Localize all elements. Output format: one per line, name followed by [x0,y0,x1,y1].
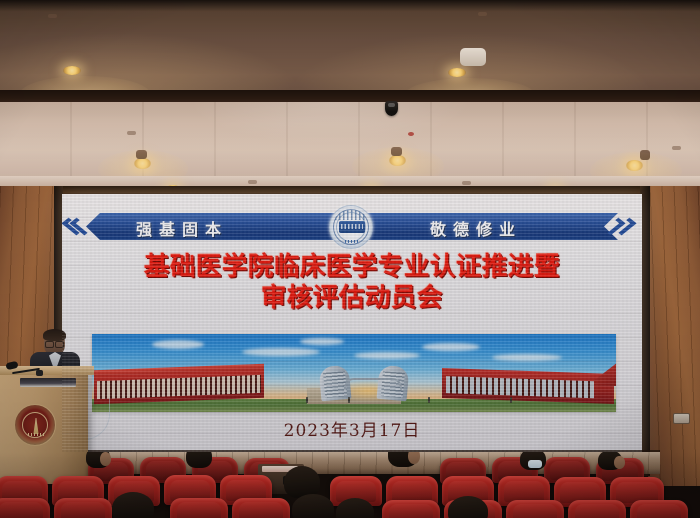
speaker-documents [20,378,76,387]
mic-head [5,361,18,370]
university-seal-emblem [329,205,373,249]
audience-member [112,492,154,518]
sprinkler-head [408,132,414,136]
audience-member [292,494,334,518]
auditorium-seat[interactable] [170,498,228,518]
motto-left: 强基固本 [136,216,228,240]
auditorium-seat[interactable] [506,500,564,518]
campus-sky-bridge [344,378,402,390]
emblem-core [339,221,365,233]
audience-seating-area [0,452,700,518]
emblem-arc-text [335,210,367,220]
ceiling-vent [462,181,471,185]
slide-title-line-1: 基础医学院临床医学专业认证推进暨 [144,252,560,282]
cloud [152,340,204,349]
wall-power-outlet[interactable] [673,413,690,424]
ceiling-vent [127,131,136,135]
audience-member [336,498,374,518]
light-housing [460,48,486,66]
audience-member-face [408,452,420,464]
slide-title: 基础医学院临床医学专业认证推进暨 审核评估动员会 [62,252,642,314]
emblem-year-text [345,240,359,243]
gooseneck-microphone [8,358,42,376]
motto-right: 敬德修业 [430,216,522,240]
ceiling-vent [672,146,681,150]
upper-ceiling [0,0,700,96]
auditorium-seat[interactable] [382,500,440,518]
ceiling-spotlight [63,66,81,75]
mic-base [36,370,43,376]
auditorium-seat[interactable] [568,500,626,518]
slide-title-line-2: 审核评估动员会 [62,283,642,314]
ceiling-spotlight [389,155,406,166]
light-housing [640,150,650,160]
auditorium-seat[interactable] [54,498,112,518]
auditorium-scene: 强基固本 敬德修业 基础医学院临床医学专业认证推进暨 审核评估动员会 [0,0,700,518]
audience-member [448,496,488,518]
right-wood-wall [648,186,700,486]
auditorium-seat[interactable] [232,498,290,518]
pedestrian [428,397,430,403]
crest-year-text [28,433,44,436]
light-housing [391,147,402,156]
audience-member [186,452,212,468]
cloud [492,354,562,361]
ceiling-spotlight [134,158,151,169]
cloud [242,348,320,356]
auditorium-seat[interactable] [630,500,688,518]
slide-banner: 强基固本 敬德修业 [62,208,642,246]
speaker-hair [43,329,66,341]
face-mask [528,460,542,468]
speaker-glasses [45,341,64,346]
ceiling-vent [48,14,57,18]
light-housing [136,150,147,159]
led-presentation-screen: 强基固本 敬德修业 基础医学院临床医学专业认证推进暨 审核评估动员会 [62,194,642,452]
crest-torch-icon [32,418,40,434]
podium-university-crest [14,404,56,446]
ceiling-dome-camera [385,101,398,116]
audience-member-face [100,452,111,466]
cloud [300,338,344,345]
cloud [422,343,480,351]
campus-building-right [442,368,614,404]
slide-date: 2023年3月17日 [62,416,642,441]
ceiling-vent [248,180,257,184]
ceiling-spotlight [626,160,643,171]
pedestrian [510,397,512,403]
auditorium-seat[interactable] [0,498,50,518]
ceiling-spotlight [448,68,466,77]
audience-member-face [614,456,625,469]
pedestrian [306,397,308,403]
campus-panorama-photo [92,334,616,412]
ceiling-vent [478,12,487,16]
cloud [354,352,420,359]
pedestrian [348,397,350,403]
